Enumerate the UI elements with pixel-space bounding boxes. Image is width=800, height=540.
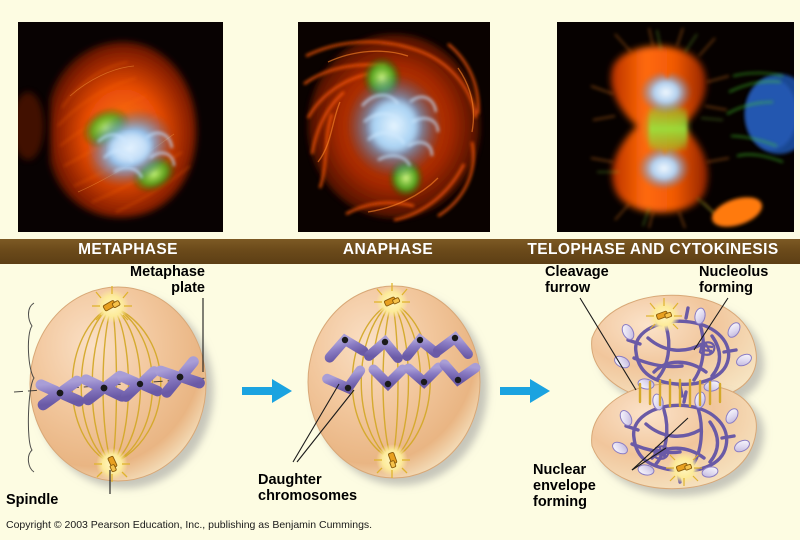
nuclear-envelope-forming-label: Nuclear envelope forming <box>533 462 643 510</box>
metaphase-micrograph-image <box>18 22 223 232</box>
arrow-metaphase-to-anaphase <box>242 379 292 403</box>
banner-label-anaphase: ANAPHASE <box>288 241 488 259</box>
nucleolus-forming-label: Nucleolus forming <box>699 264 800 296</box>
telophase-micrograph <box>557 22 794 232</box>
metaphase-plate-label: Metaphase plate <box>93 264 205 296</box>
banner-label-telophase-cytokinesis: TELOPHASE AND CYTOKINESIS <box>506 241 800 259</box>
telophase-micrograph-image <box>557 22 794 232</box>
spindle-label: Spindle <box>6 492 116 508</box>
mitosis-figure: METAPHASE ANAPHASE TELOPHASE AND CYTOKIN… <box>0 0 800 540</box>
cleavage-furrow-label: Cleavage furrow <box>545 264 649 296</box>
metaphase-micrograph <box>18 22 223 232</box>
daughter-chromosomes-label: Daughter chromosomes <box>258 472 408 504</box>
telophase-cell-diagram <box>592 295 757 488</box>
banner-label-metaphase: METAPHASE <box>0 241 256 259</box>
arrow-anaphase-to-telophase <box>500 379 550 403</box>
copyright-notice: Copyright © 2003 Pearson Education, Inc.… <box>6 519 372 531</box>
metaphase-cell-diagram <box>14 286 208 482</box>
anaphase-cell-diagram <box>308 283 480 478</box>
anaphase-micrograph-image <box>298 22 490 232</box>
anaphase-micrograph <box>298 22 490 232</box>
